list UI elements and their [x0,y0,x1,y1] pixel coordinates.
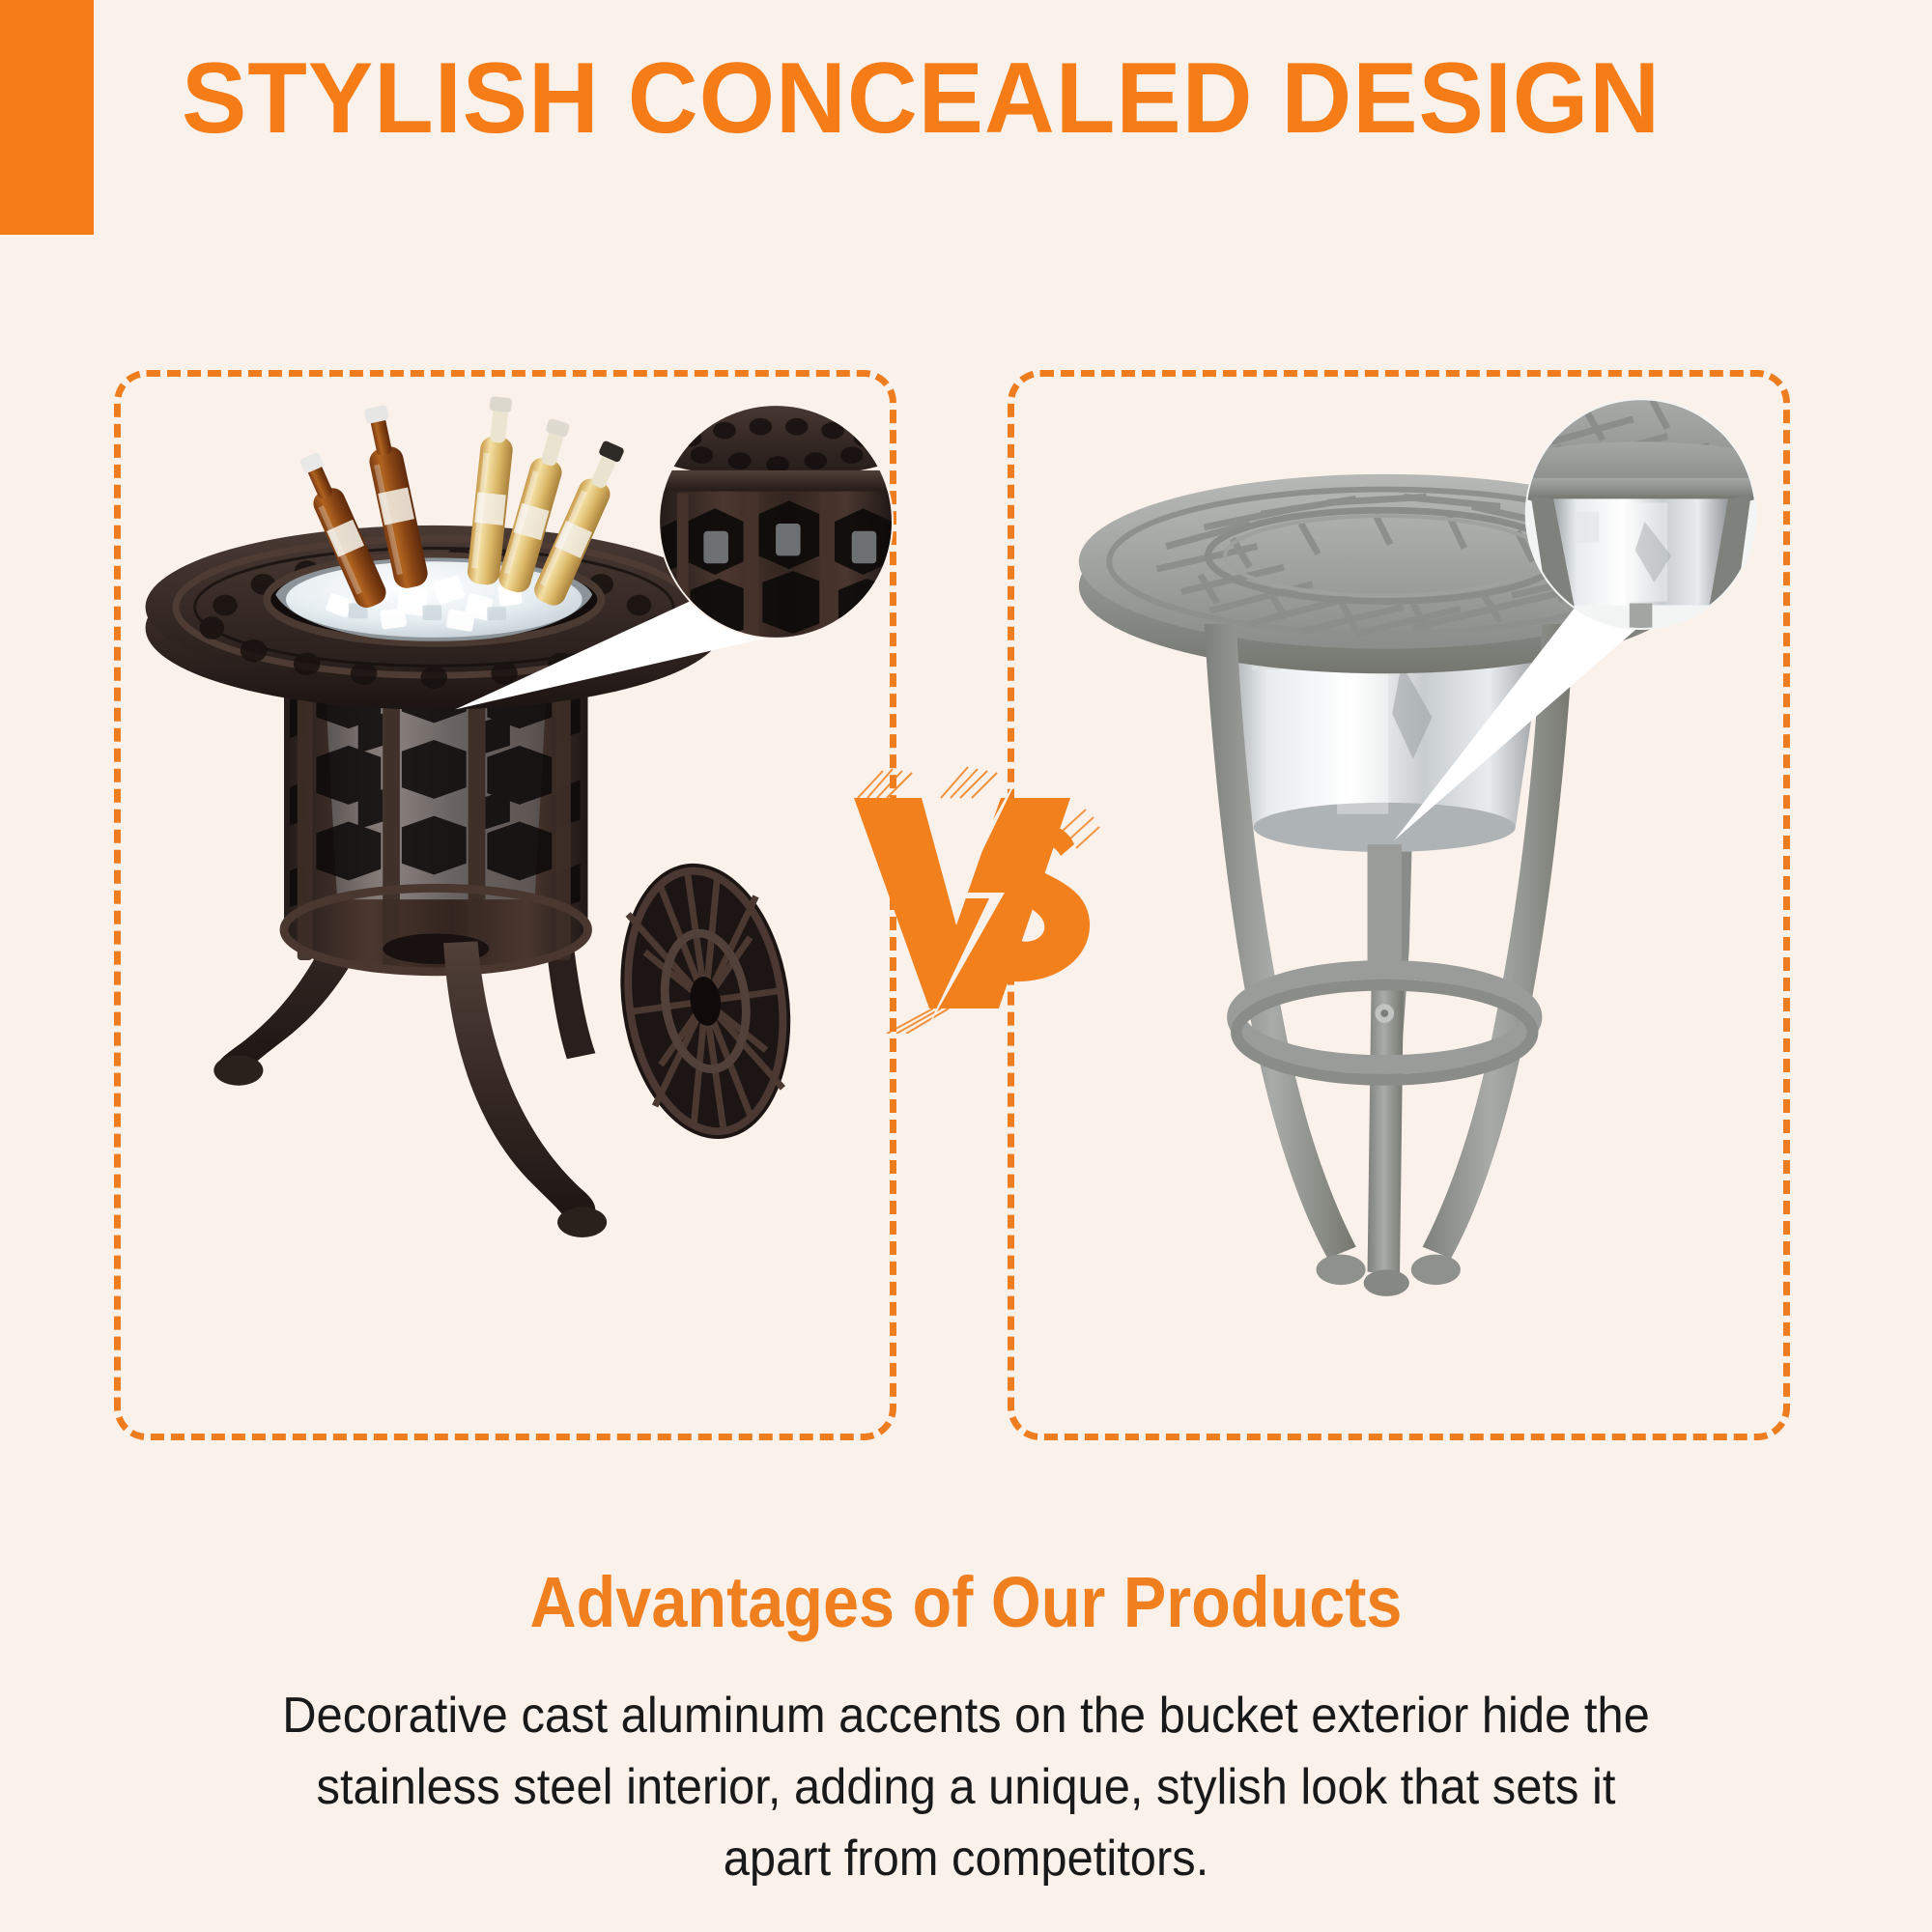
page-title: STYLISH CONCEALED DESIGN [182,44,1775,153]
accent-bar [0,0,94,235]
removable-decorative-lid [604,852,808,1150]
advantages-heading: Advantages of Our Products [97,1561,1835,1643]
comparison-panel-ours [114,370,896,1440]
crushed-ice [286,561,582,638]
competitor-product-illustration [1014,377,1783,1434]
infographic-page: STYLISH CONCEALED DESIGN [0,0,1932,1932]
our-product-illustration [121,377,890,1434]
comparison-panel-competitor [1008,370,1790,1440]
advantages-body: Decorative cast aluminum accents on the … [267,1681,1665,1894]
vs-badge [833,763,1113,1034]
